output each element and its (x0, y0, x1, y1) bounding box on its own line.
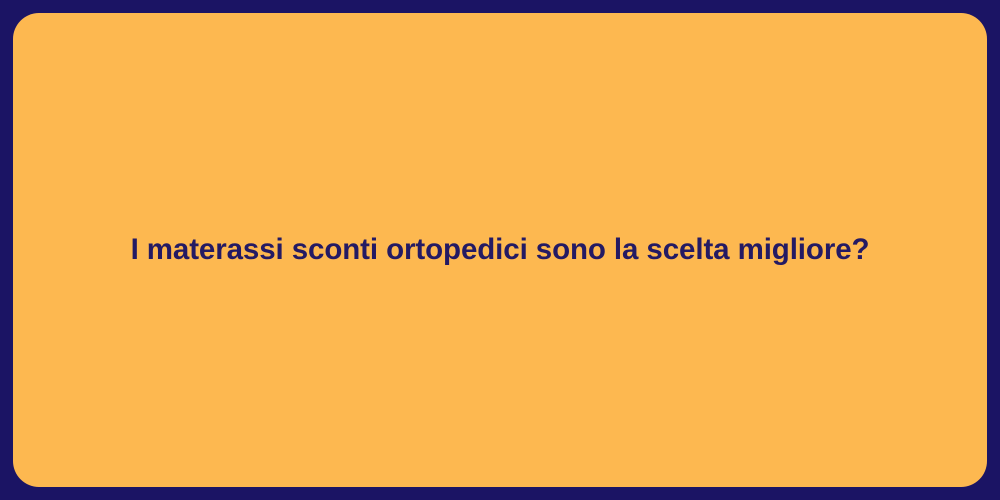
banner-border-frame: I materassi sconti ortopedici sono la sc… (0, 0, 1000, 500)
page-title: I materassi sconti ortopedici sono la sc… (131, 231, 870, 269)
banner-panel: I materassi sconti ortopedici sono la sc… (13, 13, 987, 487)
